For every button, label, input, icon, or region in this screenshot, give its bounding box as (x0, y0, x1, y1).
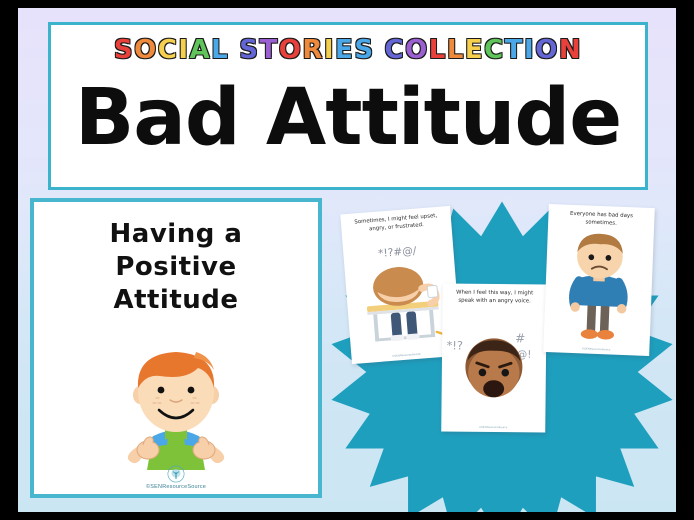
cover-title-line-2: Positive (34, 251, 318, 284)
cover-title-line-3: Attitude (34, 284, 318, 317)
svg-text:*!?: *!? (447, 338, 463, 352)
cover-title: Having a Positive Attitude (34, 218, 318, 317)
page-title: Bad Attitude (51, 59, 645, 177)
svg-text:#: # (515, 331, 525, 345)
cover-watermark-text: ©SENResourceSource (34, 484, 318, 490)
preview-card-3-caption: Everyone has bad days sometimes. (554, 210, 649, 229)
page-previews-gallery: Sometimes, I might feel upset, angry, or… (328, 198, 676, 512)
preview-card-2-caption: When I feel this way, I might speak with… (449, 290, 541, 306)
poster-root: SOCIAL STORIES COLLECTION Bad Attitude H… (0, 0, 694, 520)
cover-title-line-1: Having a (34, 218, 318, 251)
preview-card-3[interactable]: Everyone has bad days sometimes. (543, 204, 655, 356)
svg-text:*!?#@/: *!?#@/ (378, 244, 418, 260)
cover-preview-card[interactable]: Having a Positive Attitude (30, 198, 322, 498)
sen-resource-source-logo-icon (167, 465, 185, 483)
poster-canvas: SOCIAL STORIES COLLECTION Bad Attitude H… (18, 8, 676, 512)
preview-card-3-watermark: ©SENResourceSource (543, 346, 649, 353)
preview-card-2[interactable]: When I feel this way, I might speak with… (441, 283, 547, 432)
cover-watermark: ©SENResourceSource (34, 465, 318, 490)
preview-card-2-watermark: ©SENResourceSource (441, 425, 545, 429)
title-card: SOCIAL STORIES COLLECTION Bad Attitude (48, 22, 648, 190)
shouting-boy-illustration: *!? # @! (441, 307, 546, 422)
happy-boy-illustration (101, 340, 251, 472)
sad-boy-illustration (544, 228, 654, 346)
